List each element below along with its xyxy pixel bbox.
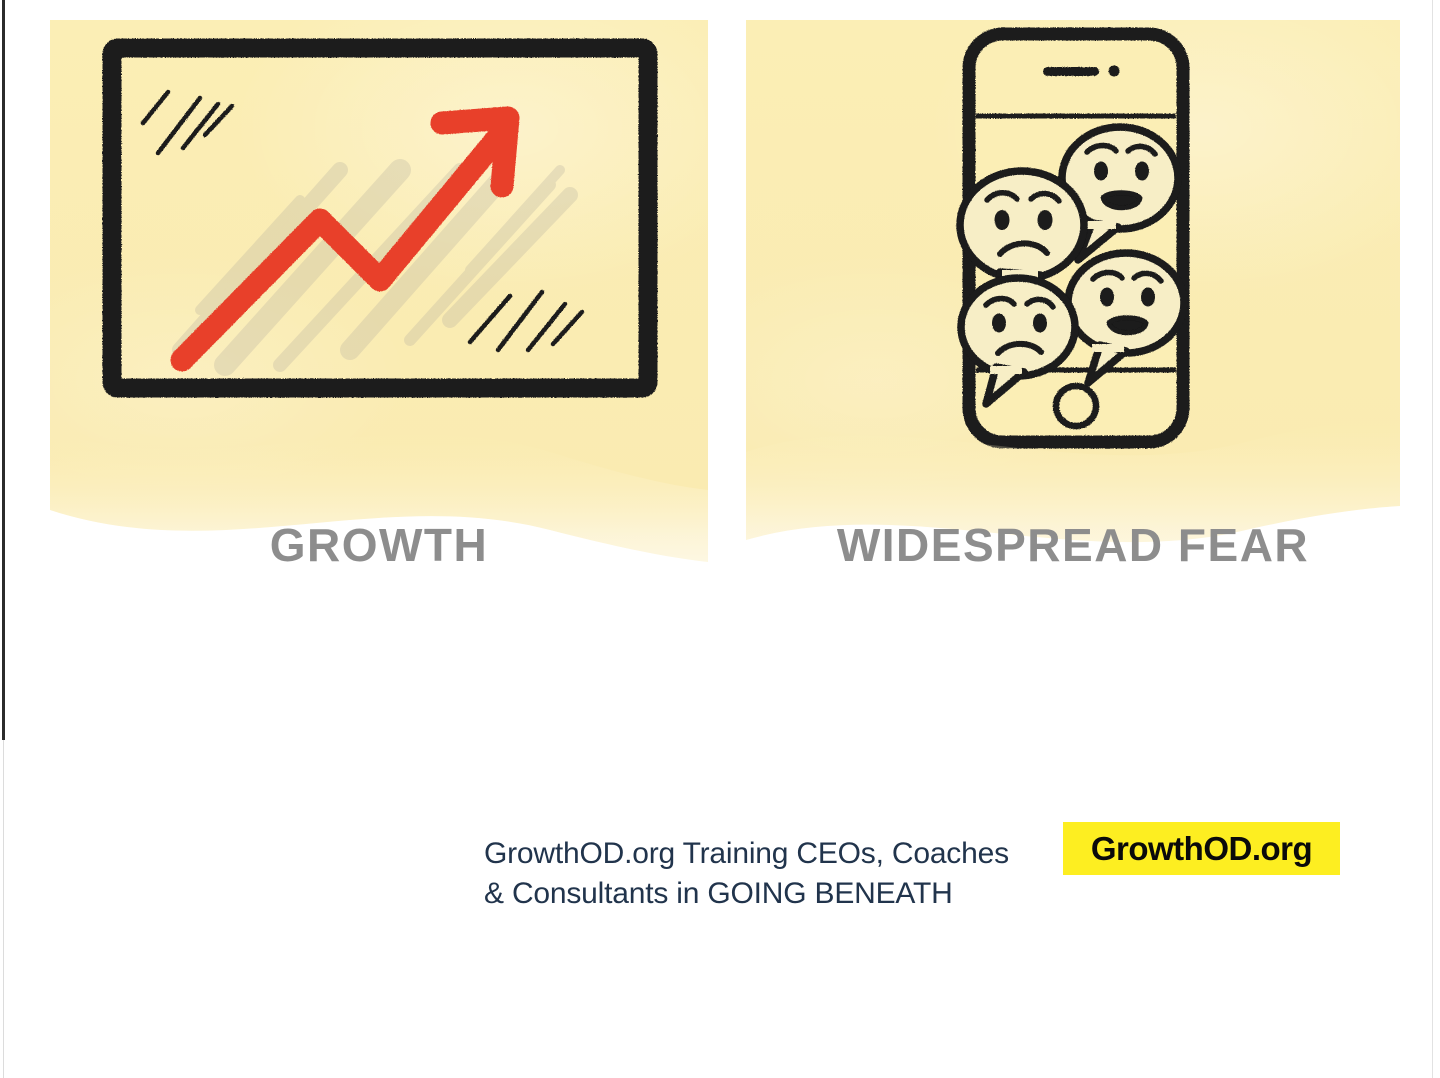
illustration-panels: GROWTH bbox=[50, 20, 1400, 620]
page-left-edge-rule-faint bbox=[3, 740, 4, 1078]
panel-growth-caption: GROWTH bbox=[50, 518, 708, 572]
brand-badge-label: GrowthOD.org bbox=[1091, 830, 1312, 868]
tagline-line-1: GrowthOD.org Training CEOs, Coaches bbox=[484, 834, 1044, 874]
panel-fear: WIDESPREAD FEAR bbox=[746, 20, 1400, 620]
panel-growth: GROWTH bbox=[50, 20, 708, 620]
slide-canvas: GROWTH bbox=[0, 0, 1440, 1078]
brand-badge: GrowthOD.org bbox=[1063, 822, 1340, 875]
panel-bottom-wave-fade bbox=[746, 390, 1400, 620]
footer-tagline: GrowthOD.org Training CEOs, Coaches & Co… bbox=[484, 834, 1044, 914]
panel-bottom-wave-fade bbox=[50, 390, 708, 620]
tagline-line-2: & Consultants in GOING BENEATH bbox=[484, 874, 1044, 914]
page-right-edge-rule-faint bbox=[1432, 0, 1433, 1078]
page-left-edge-rule bbox=[2, 0, 5, 740]
panel-fear-caption: WIDESPREAD FEAR bbox=[746, 518, 1400, 572]
